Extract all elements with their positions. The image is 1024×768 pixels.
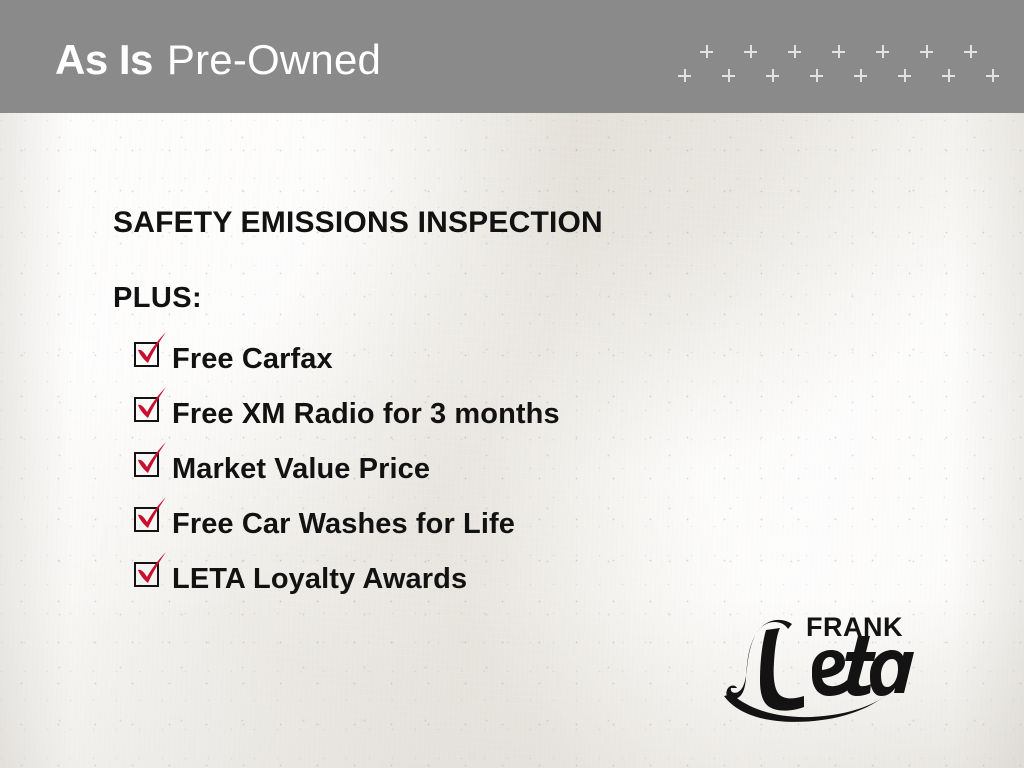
checkbox-checked-icon[interactable] [134,562,159,587]
header-bar: As IsPre-Owned [0,0,1024,113]
plus-mark [920,45,933,58]
plus-mark [700,45,713,58]
checkmark-icon [132,550,168,588]
plus-row-top [672,45,1024,59]
checkbox-checked-icon[interactable] [134,397,159,422]
plus-mark [854,69,867,82]
page-title-light: Pre-Owned [167,36,381,83]
checkmark-icon [132,495,168,533]
checkmark-icon [132,440,168,478]
plus-mark [898,69,911,82]
plus-mark [832,45,845,58]
frank-leta-logo-artwork: FRANK [700,600,920,725]
page-title-bold: As Is [55,36,153,83]
frank-leta-logo: FRANK [700,600,920,725]
list-item-label: Free XM Radio for 3 months [172,397,560,431]
checkmark-icon [132,330,168,368]
subtitle-safety-emissions-inspection: SAFETY EMISSIONS INSPECTION [113,205,813,241]
checkbox-checked-icon[interactable] [134,452,159,477]
plus-mark [722,69,735,82]
logo-frank-text: FRANK [806,612,903,642]
list-item: Free XM Radio for 3 months [113,386,813,441]
list-item: Free Car Washes for Life [113,496,813,551]
list-item-label: Market Value Price [172,452,430,486]
plus-mark [678,69,691,82]
checkbox-checked-icon[interactable] [134,507,159,532]
checkbox-checked-icon[interactable] [134,342,159,367]
list-item: Market Value Price [113,441,813,496]
plus-row-bottom [672,69,1024,83]
header-plus-decoration [672,40,1024,92]
slide: As IsPre-Owned SAFETY EMISSIONS INSPECTI… [0,0,1024,768]
plus-mark [876,45,889,58]
list-item-label: Free Car Washes for Life [172,507,515,541]
slide-content: SAFETY EMISSIONS INSPECTION PLUS: Free C… [113,205,813,606]
plus-mark [788,45,801,58]
plus-mark [942,69,955,82]
list-item-label: Free Carfax [172,342,333,376]
plus-mark [766,69,779,82]
plus-mark [986,69,999,82]
list-item-label: LETA Loyalty Awards [172,562,467,596]
benefits-check-list: Free CarfaxFree XM Radio for 3 monthsMar… [113,331,813,606]
list-item: LETA Loyalty Awards [113,551,813,606]
plus-heading: PLUS: [113,281,813,315]
plus-mark [964,45,977,58]
plus-mark [810,69,823,82]
page-title: As IsPre-Owned [55,36,381,84]
checkmark-icon [132,385,168,423]
list-item: Free Carfax [113,331,813,386]
plus-mark [744,45,757,58]
